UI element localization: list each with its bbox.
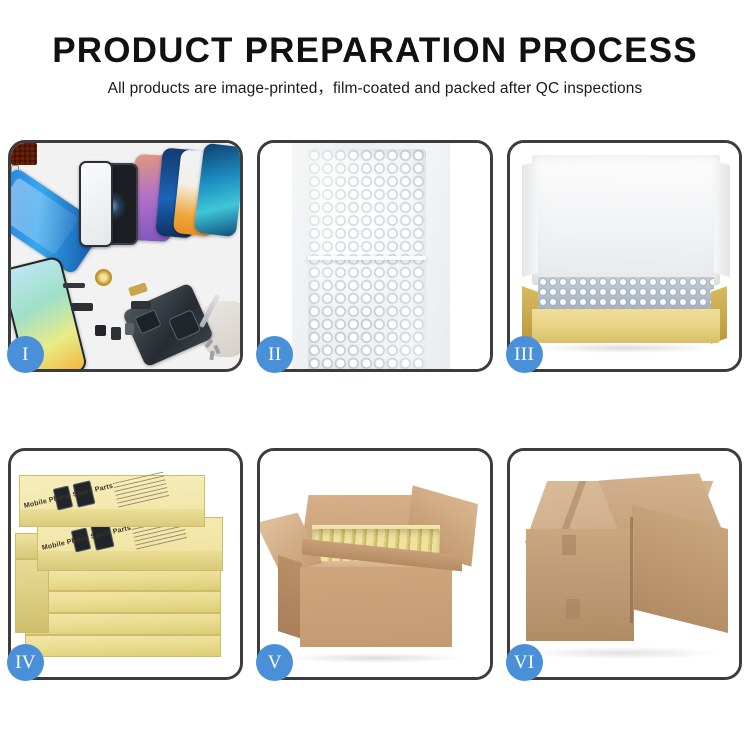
page-subtitle: All products are image-printed，film-coat… — [0, 78, 750, 100]
bubble-wrap-icon — [260, 143, 489, 369]
process-steps-grid: I II III — [8, 140, 742, 680]
step-badge-6: VI — [506, 644, 543, 681]
process-step-card-6[interactable]: VI — [507, 448, 742, 680]
sealed-carton-icon — [510, 451, 739, 677]
stacked-retail-boxes-icon: Mobile Phone Spare Parts Mobile Phone Sp… — [11, 451, 240, 677]
process-step-card-5[interactable]: V — [257, 448, 492, 680]
step-badge-4: IV — [7, 644, 44, 681]
open-carton-icon — [260, 451, 489, 677]
step-badge-3: III — [506, 336, 543, 373]
page-title: PRODUCT PREPARATION PROCESS — [0, 30, 750, 72]
process-step-card-4[interactable]: Mobile Phone Spare Parts Mobile Phone Sp… — [8, 448, 243, 680]
page-header: PRODUCT PREPARATION PROCESS All products… — [0, 0, 750, 100]
process-step-card-3[interactable]: III — [507, 140, 742, 372]
phone-screens-and-parts-icon — [11, 143, 240, 369]
step-badge-1: I — [7, 336, 44, 373]
process-step-card-1[interactable]: I — [8, 140, 243, 372]
process-step-card-2[interactable]: II — [257, 140, 492, 372]
open-kraft-box-icon — [510, 143, 739, 369]
